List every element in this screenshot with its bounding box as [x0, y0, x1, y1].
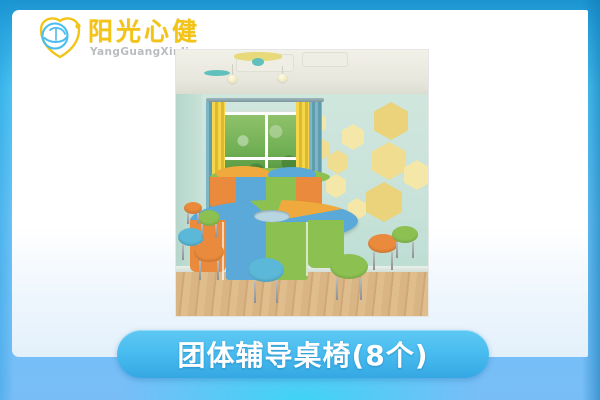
product-image — [176, 50, 428, 316]
brand-name-cn: 阳光心健 — [88, 19, 205, 44]
poster-canvas: 阳光心健 YangGuangXinJian — [0, 0, 600, 400]
product-title-banner: 团体辅导桌椅(8个) — [117, 330, 489, 378]
heart-shield-swoosh-icon — [36, 16, 84, 60]
content-card: 阳光心健 YangGuangXinJian — [12, 10, 588, 357]
product-title: 团体辅导桌椅(8个) — [177, 334, 428, 374]
product-image-frame — [176, 50, 428, 316]
